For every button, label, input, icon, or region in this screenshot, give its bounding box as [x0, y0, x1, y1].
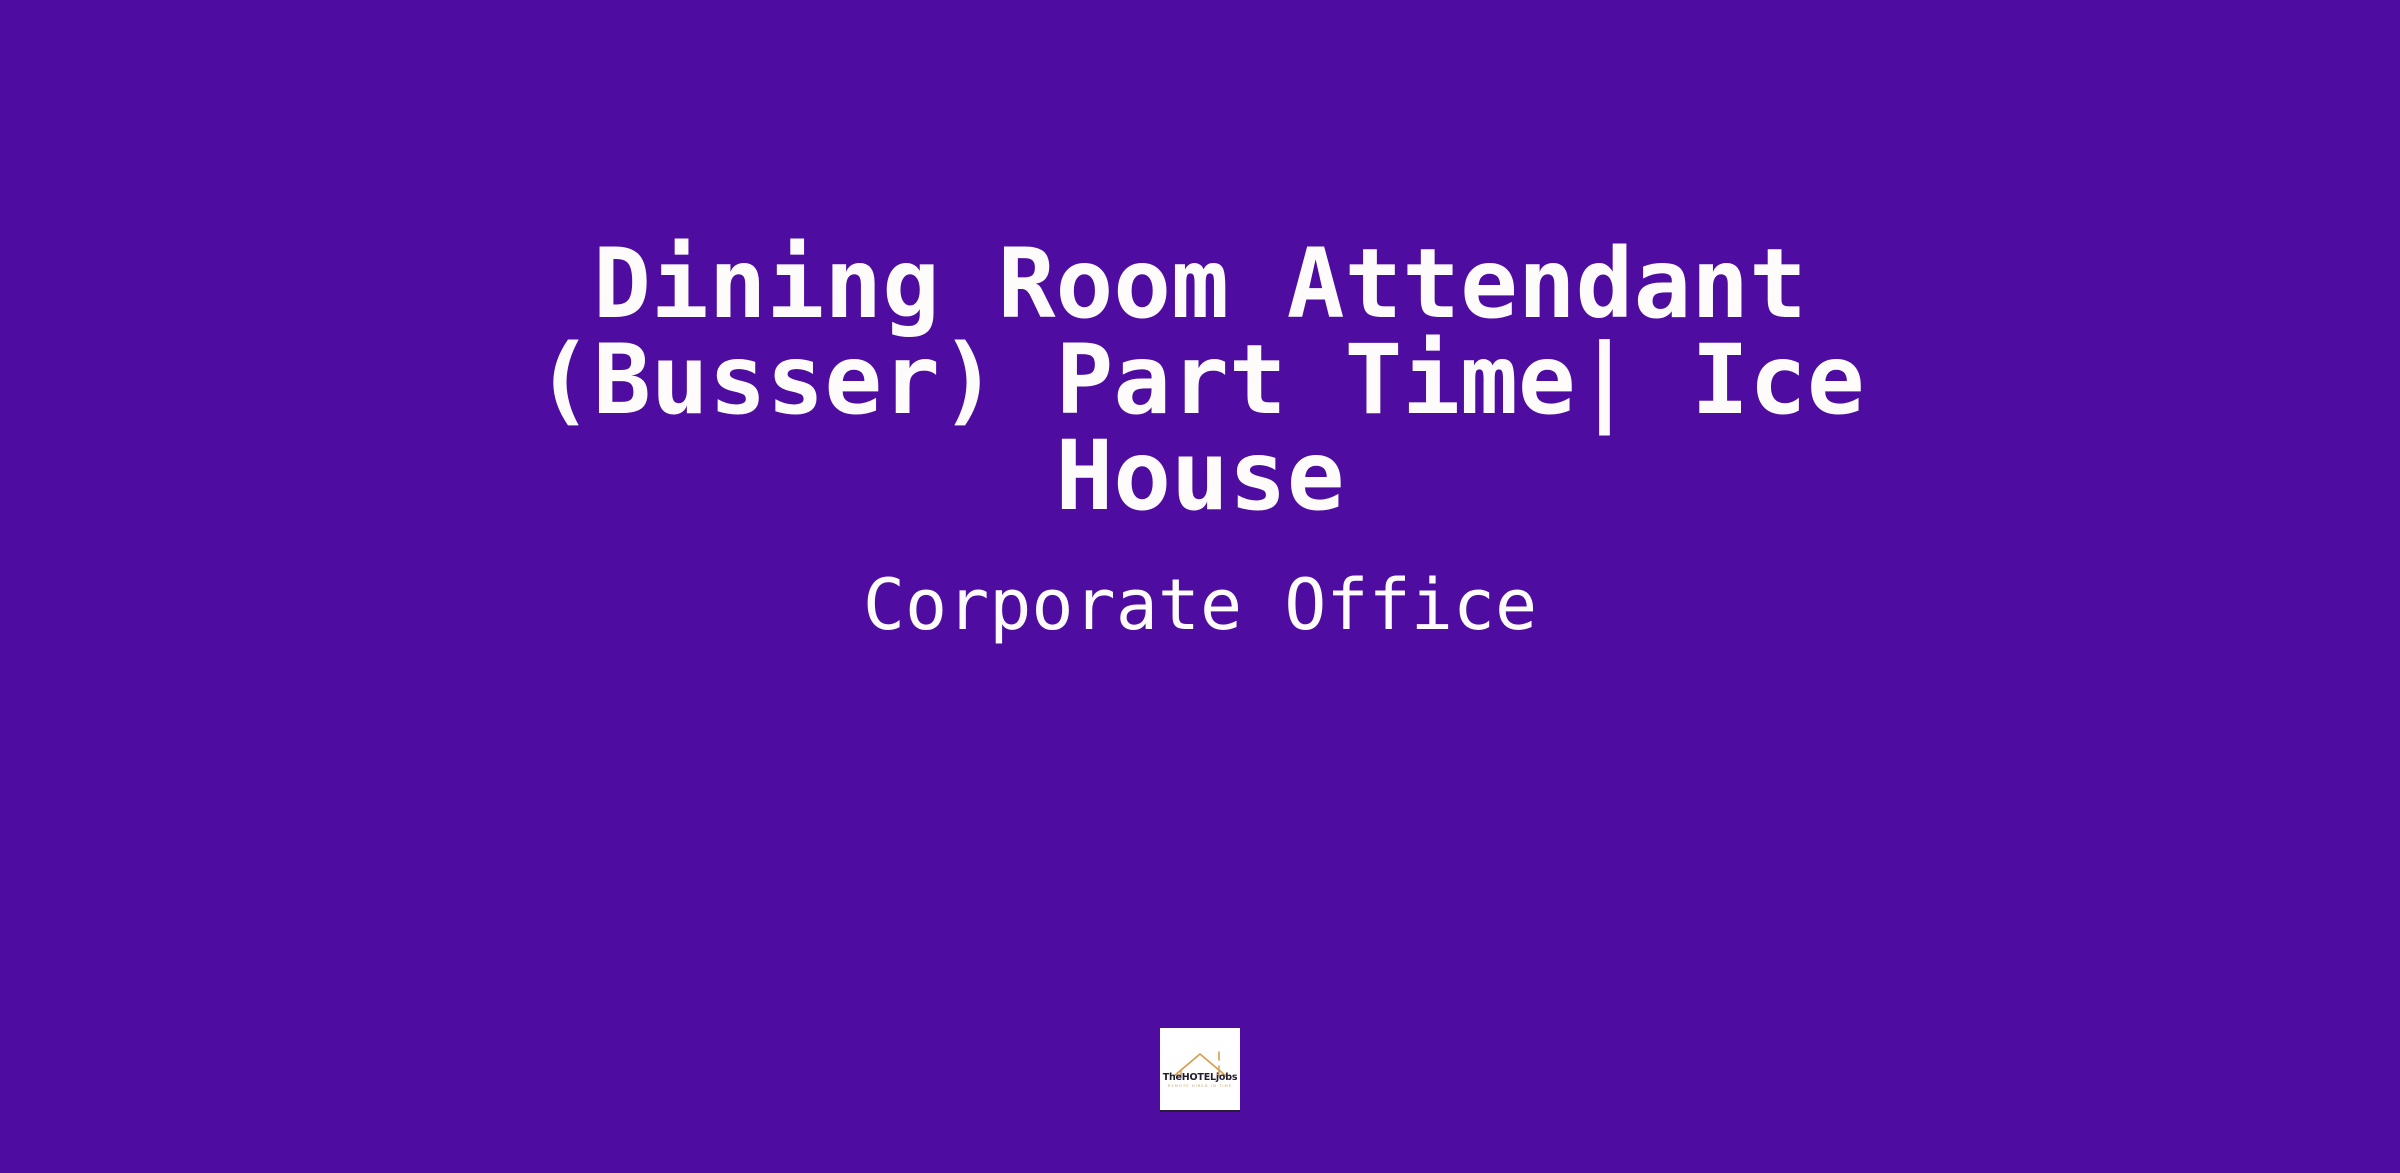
logo-wordmark-prefix: The [1163, 1072, 1182, 1083]
page-title: Dining Room Attendant (Busser) Part Time… [350, 236, 2050, 524]
job-subtitle: Corporate Office [200, 570, 2200, 640]
job-card-content: Dining Room Attendant (Busser) Part Time… [0, 0, 2400, 640]
logo-wordmark-highlight: HOTEL [1182, 1072, 1216, 1083]
logo-wordmark-suffix: jobs [1216, 1072, 1237, 1083]
job-posting-card: Dining Room Attendant (Busser) Part Time… [0, 0, 2400, 1173]
logo-wordmark: TheHOTELjobs [1163, 1073, 1238, 1083]
company-logo: TheHOTELjobs REMOTE HIRED IN TIME [1160, 1028, 1240, 1112]
logo-tagline: REMOTE HIRED IN TIME [1168, 1085, 1232, 1089]
